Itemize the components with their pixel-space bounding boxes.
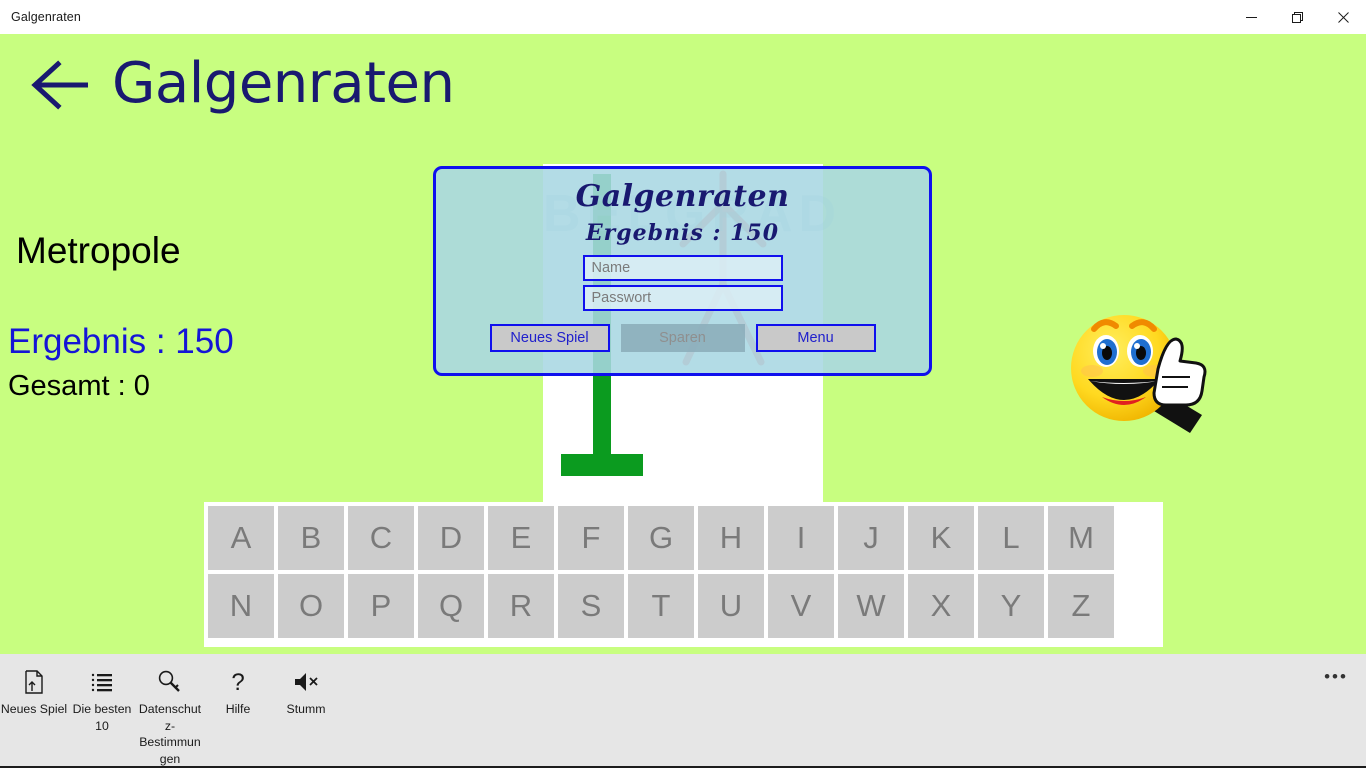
page-header: Galgenraten: [28, 56, 455, 112]
key-D[interactable]: D: [418, 506, 484, 570]
appbar-help-label: Hilfe: [204, 701, 272, 718]
gallows-base: [561, 454, 643, 476]
key-B[interactable]: B: [278, 506, 344, 570]
appbar-help[interactable]: ? Hilfe: [204, 668, 272, 718]
letter-keyboard: A B C D E F G H I J K L M N O P Q R S: [204, 502, 1163, 647]
smiley-thumbs-up-icon: [1062, 299, 1217, 435]
category-label: Metropole: [16, 230, 181, 272]
key-icon: [157, 668, 183, 696]
key-J[interactable]: J: [838, 506, 904, 570]
game-page: Galgenraten Metropole Ergebnis : 150 Ges…: [0, 34, 1366, 654]
appbar-privacy-label: Datenschutz-Bestimmungen: [136, 701, 204, 767]
keyboard-row-1: A B C D E F G H I J K L M: [208, 506, 1163, 574]
key-Y[interactable]: Y: [978, 574, 1044, 638]
mute-speaker-icon: [293, 668, 319, 696]
key-K[interactable]: K: [908, 506, 974, 570]
score-dialog: Galgenraten Ergebnis : 150 Neues Spiel S…: [433, 166, 932, 376]
restore-button[interactable]: [1274, 0, 1320, 34]
new-page-icon: [22, 668, 46, 696]
app-bar-items: Neues Spiel Die besten 10: [0, 654, 1366, 767]
key-S[interactable]: S: [558, 574, 624, 638]
dialog-subtitle: Ergebnis : 150: [436, 220, 929, 246]
key-R[interactable]: R: [488, 574, 554, 638]
page-title: Galgenraten: [112, 56, 455, 112]
question-mark-icon: ?: [227, 668, 249, 696]
appbar-highscores[interactable]: Die besten 10: [68, 668, 136, 734]
window-controls: [1228, 0, 1366, 34]
back-arrow-icon[interactable]: [28, 56, 94, 112]
total-label: Gesamt : 0: [8, 370, 150, 403]
key-F[interactable]: F: [558, 506, 624, 570]
key-V[interactable]: V: [768, 574, 834, 638]
appbar-highscores-label: Die besten 10: [68, 701, 136, 734]
minimize-icon: [1246, 12, 1257, 23]
key-O[interactable]: O: [278, 574, 344, 638]
window-title: Galgenraten: [0, 10, 81, 24]
key-U[interactable]: U: [698, 574, 764, 638]
appbar-privacy[interactable]: Datenschutz-Bestimmungen: [136, 668, 204, 767]
app-bar: Neues Spiel Die besten 10: [0, 654, 1366, 768]
key-N[interactable]: N: [208, 574, 274, 638]
key-W[interactable]: W: [838, 574, 904, 638]
key-Z[interactable]: Z: [1048, 574, 1114, 638]
svg-text:?: ?: [231, 669, 244, 695]
close-icon: [1338, 12, 1349, 23]
key-Q[interactable]: Q: [418, 574, 484, 638]
list-icon: [90, 668, 114, 696]
key-H[interactable]: H: [698, 506, 764, 570]
key-C[interactable]: C: [348, 506, 414, 570]
key-I[interactable]: I: [768, 506, 834, 570]
score-label: Ergebnis : 150: [8, 322, 234, 362]
key-A[interactable]: A: [208, 506, 274, 570]
new-game-button[interactable]: Neues Spiel: [490, 324, 610, 352]
key-X[interactable]: X: [908, 574, 974, 638]
menu-button[interactable]: Menu: [756, 324, 876, 352]
key-E[interactable]: E: [488, 506, 554, 570]
overflow-menu-button[interactable]: •••: [1316, 662, 1356, 692]
password-input[interactable]: [583, 285, 783, 311]
save-button: Sparen: [621, 324, 745, 352]
app-window: Galgenraten: [0, 0, 1366, 768]
key-L[interactable]: L: [978, 506, 1044, 570]
close-button[interactable]: [1320, 0, 1366, 34]
key-M[interactable]: M: [1048, 506, 1114, 570]
dialog-inputs: [583, 255, 783, 311]
appbar-mute-label: Stumm: [272, 701, 340, 718]
keyboard-row-2: N O P Q R S T U V W X Y Z: [208, 574, 1163, 642]
key-G[interactable]: G: [628, 506, 694, 570]
appbar-new-game-label: Neues Spiel: [0, 701, 68, 718]
restore-icon: [1292, 12, 1303, 23]
minimize-button[interactable]: [1228, 0, 1274, 34]
key-P[interactable]: P: [348, 574, 414, 638]
title-bar: Galgenraten: [0, 0, 1366, 34]
dialog-title: Galgenraten: [436, 179, 929, 214]
key-T[interactable]: T: [628, 574, 694, 638]
name-input[interactable]: [583, 255, 783, 281]
appbar-mute[interactable]: Stumm: [272, 668, 340, 718]
appbar-new-game[interactable]: Neues Spiel: [0, 668, 68, 718]
dialog-buttons: Neues Spiel Sparen Menu: [436, 324, 929, 352]
